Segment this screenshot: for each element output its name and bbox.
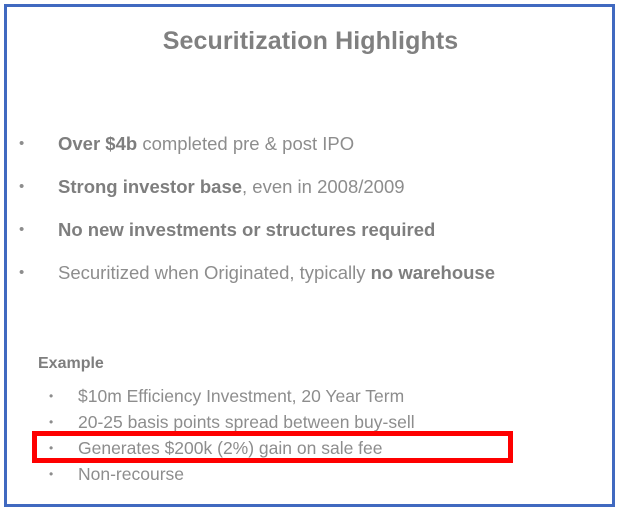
- bullet-icon: •: [19, 251, 24, 294]
- bullet-icon: •: [49, 461, 53, 487]
- list-item-regular-text: completed pre & post IPO: [137, 133, 354, 154]
- bullet-icon: •: [19, 122, 24, 165]
- list-item: • Over $4b completed pre & post IPO: [0, 122, 621, 165]
- bullet-icon: •: [19, 165, 24, 208]
- list-item-bold-text: No new investments or structures require…: [58, 219, 435, 240]
- list-item-bold-text: Over $4b: [58, 133, 137, 154]
- list-item-regular-text: Securitized when Originated, typically: [58, 262, 371, 283]
- example-items-list: • $10m Efficiency Investment, 20 Year Te…: [0, 383, 621, 487]
- bullet-icon: •: [19, 208, 24, 251]
- bullet-icon: •: [49, 435, 53, 461]
- example-section-heading: Example: [38, 355, 104, 373]
- list-item-text: $10m Efficiency Investment, 20 Year Term: [78, 386, 404, 406]
- page-title: Securitization Highlights: [0, 27, 621, 56]
- list-item-text: 20-25 basis points spread between buy-se…: [78, 412, 415, 432]
- list-item-regular-text: , even in 2008/2009: [242, 176, 405, 197]
- list-item: • No new investments or structures requi…: [0, 208, 621, 251]
- list-item-bold-text: Strong investor base: [58, 176, 242, 197]
- list-item: • Securitized when Originated, typically…: [0, 251, 621, 294]
- list-item: • Non-recourse: [0, 461, 621, 487]
- slide-canvas: Securitization Highlights • Over $4b com…: [0, 0, 621, 513]
- list-item-bold-text: no warehouse: [371, 262, 495, 283]
- list-item: • 20-25 basis points spread between buy-…: [0, 409, 621, 435]
- list-item-highlighted: • Generates $200k (2%) gain on sale fee: [0, 435, 621, 461]
- list-item: • $10m Efficiency Investment, 20 Year Te…: [0, 383, 621, 409]
- bullet-icon: •: [49, 383, 53, 409]
- list-item-text: Non-recourse: [78, 464, 184, 484]
- list-item: • Strong investor base, even in 2008/200…: [0, 165, 621, 208]
- list-item-text: Generates $200k (2%) gain on sale fee: [78, 438, 383, 458]
- bullet-icon: •: [49, 409, 53, 435]
- main-highlights-list: • Over $4b completed pre & post IPO • St…: [0, 122, 621, 294]
